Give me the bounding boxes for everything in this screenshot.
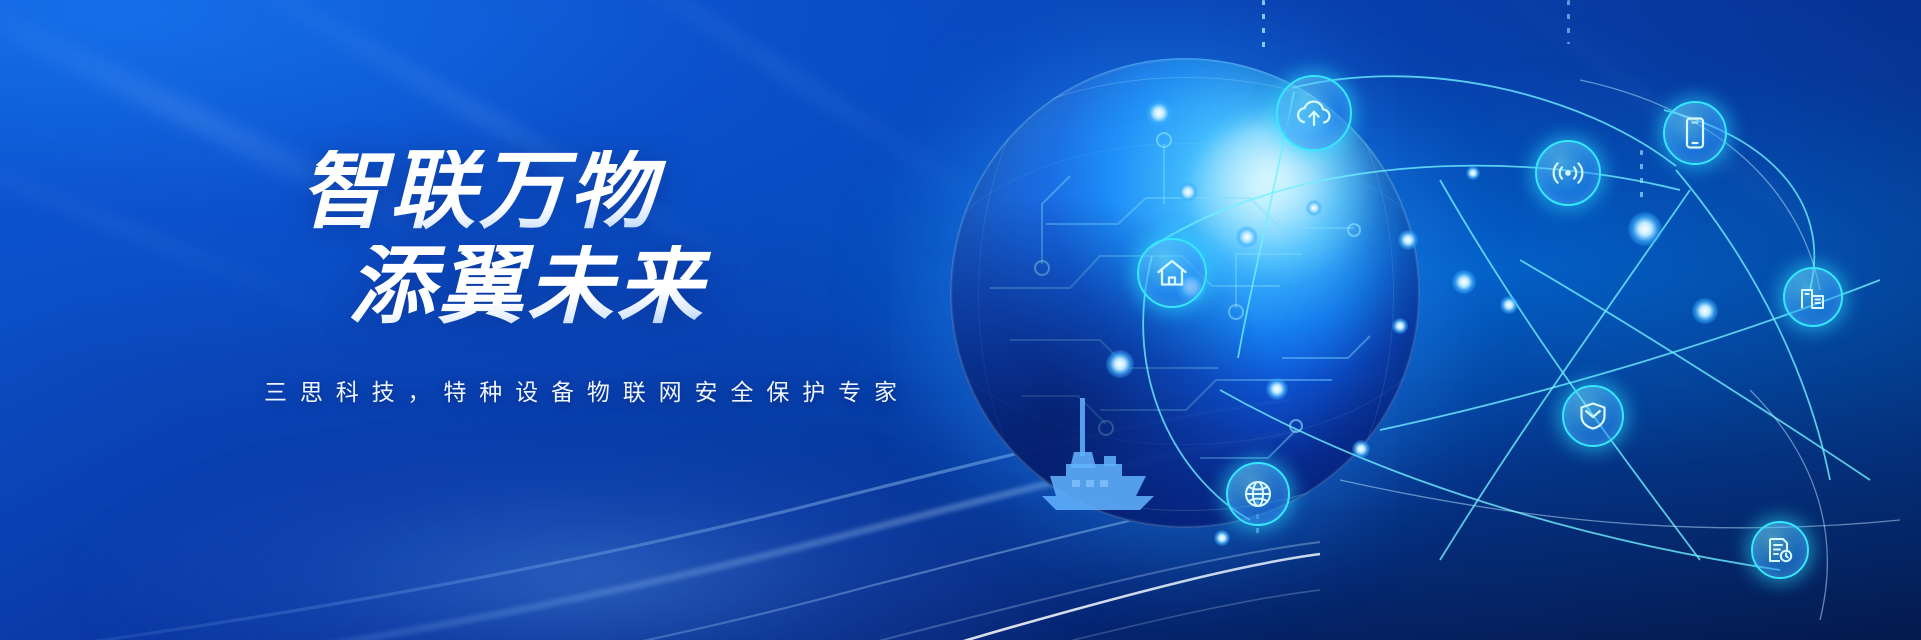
headline-line-1: 智联万物 — [300, 150, 1040, 233]
hero-banner: 智联万物 添翼未来 三思科技，特种设备物联网安全保护专家 — [0, 0, 1921, 640]
cloud-upload-icon[interactable] — [1276, 75, 1352, 151]
dashed-line — [1262, 0, 1265, 56]
network-node-dot — [1214, 530, 1230, 546]
document-report-icon[interactable] — [1751, 521, 1809, 579]
network-node-dot — [1692, 298, 1718, 324]
wifi-signal-icon[interactable] — [1535, 140, 1601, 206]
dashed-line — [1640, 150, 1643, 202]
network-node-dot — [1452, 270, 1476, 294]
network-node-dot — [1500, 296, 1518, 314]
building-icon[interactable] — [1783, 267, 1843, 327]
headline-line-2: 添翼未来 — [348, 245, 1040, 328]
dashed-line — [1567, 0, 1570, 44]
globe-network-icon[interactable] — [1226, 462, 1290, 526]
shield-icon[interactable] — [1562, 385, 1624, 447]
home-icon[interactable] — [1137, 238, 1207, 308]
smartphone-icon[interactable] — [1663, 101, 1727, 165]
hero-copy: 智联万物 添翼未来 三思科技，特种设备物联网安全保护专家 — [300, 150, 1040, 407]
network-node-dot — [1628, 212, 1662, 246]
network-node-dot — [1466, 166, 1480, 180]
hero-subtitle: 三思科技，特种设备物联网安全保护专家 — [264, 373, 1040, 407]
